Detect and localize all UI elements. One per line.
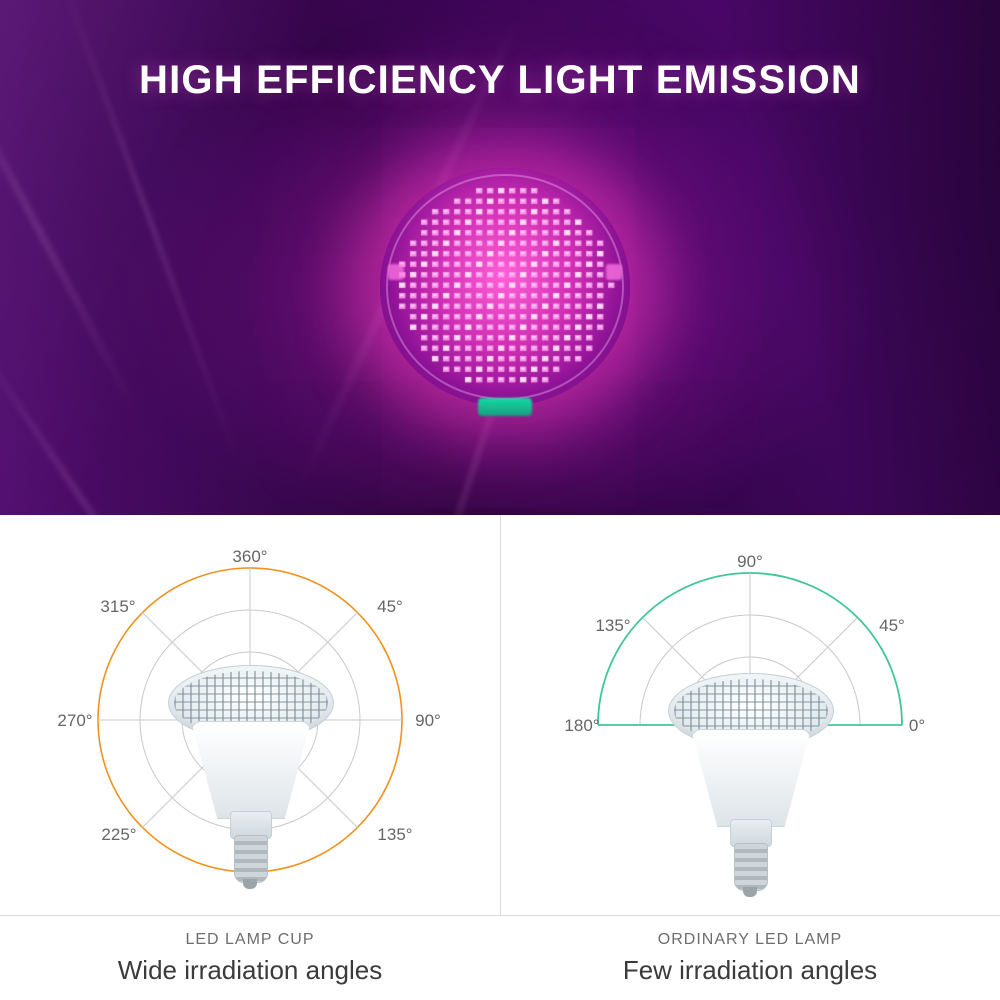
angle-label-90: 90° [415, 711, 441, 730]
right-angle-labels: 90° 45° 0° 180° 135° [500, 515, 1000, 915]
led-edge-marker [388, 264, 404, 280]
angle-label-360: 360° [232, 547, 267, 566]
angle-label-270: 270° [57, 711, 92, 730]
right-caption-big: Few irradiation angles [500, 955, 1000, 986]
left-caption: LED LAMP CUP Wide irradiation angles [0, 915, 500, 1000]
angle-label-180: 180° [564, 716, 599, 735]
left-angle-labels: 360° 45° 90° 135° 225° 270° 315° [0, 515, 500, 915]
angle-label-225: 225° [101, 825, 136, 844]
led-dot-grid [394, 182, 616, 392]
right-caption-small: ORDINARY LED LAMP [500, 931, 1000, 949]
right-caption: ORDINARY LED LAMP Few irradiation angles [500, 915, 1000, 1000]
right-panel: 90° 45° 0° 180° 135° [500, 515, 1000, 915]
captions-row: LED LAMP CUP Wide irradiation angles ORD… [0, 915, 1000, 1000]
angle-label-0: 0° [909, 716, 925, 735]
angle-label-315: 315° [100, 597, 135, 616]
left-caption-big: Wide irradiation angles [0, 955, 500, 986]
product-infographic: HIGH EFFICIENCY LIGHT EMISSION [0, 0, 1000, 1000]
comparison-section: 360° 45° 90° 135° 225° 270° 315° [0, 515, 1000, 1000]
angle-label-135: 135° [377, 825, 412, 844]
angle-label-135: 135° [595, 616, 630, 635]
left-panel: 360° 45° 90° 135° 225° 270° 315° [0, 515, 500, 915]
led-panel-photo [380, 168, 630, 406]
angle-label-45: 45° [377, 597, 403, 616]
hero-section: HIGH EFFICIENCY LIGHT EMISSION [0, 0, 1000, 515]
left-caption-small: LED LAMP CUP [0, 931, 500, 949]
led-terminal [478, 398, 532, 416]
page-title: HIGH EFFICIENCY LIGHT EMISSION [0, 58, 1000, 103]
led-edge-marker [606, 264, 622, 280]
angle-label-90: 90° [737, 552, 763, 571]
angle-label-45: 45° [879, 616, 905, 635]
